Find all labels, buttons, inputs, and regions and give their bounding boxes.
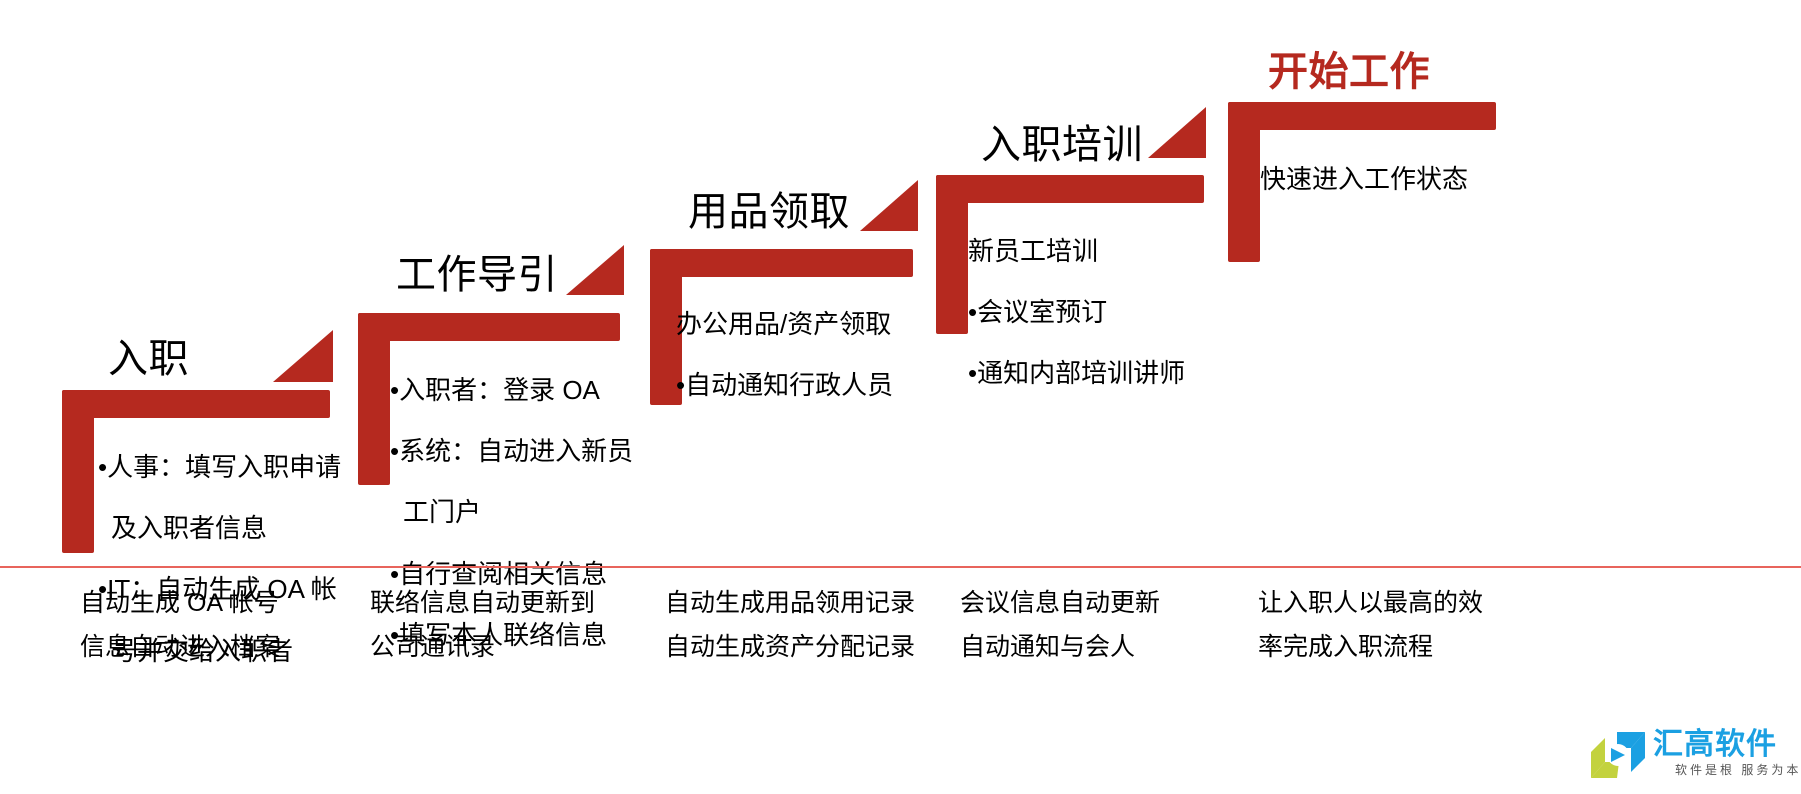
step-4-body: 新员工培训 •会议室预订 •通知内部培训讲师 (968, 205, 1228, 420)
step-1-line-2: 及入职者信息 (98, 513, 360, 544)
step-4-line-3: •通知内部培训讲师 (968, 358, 1228, 389)
benefit-3-line-2: 自动生成资产分配记录 (665, 626, 915, 670)
benefit-2: 联络信息自动更新到 公司通讯录 (370, 582, 595, 670)
benefit-4: 会议信息自动更新 自动通知与会人 (960, 582, 1160, 670)
logo-tagline: 软件是根 服务为本 (1675, 764, 1801, 776)
step-2-bar-top (358, 313, 620, 341)
step-4-bar-left (936, 175, 968, 334)
benefit-3-line-1: 自动生成用品领用记录 (665, 582, 915, 626)
step-2-bar-left (358, 313, 390, 485)
step-4-line-2: •会议室预订 (968, 297, 1228, 328)
step-3-line-2: •自动通知行政人员 (676, 370, 931, 401)
step-1-arrow-triangle-icon (273, 330, 333, 382)
step-5-title: 开始工作 (1268, 52, 1430, 92)
benefit-5-line-1: 让入职人以最高的效 (1258, 582, 1483, 626)
step-5-bar-top (1228, 102, 1496, 130)
step-3-body: 办公用品/资产领取 •自动通知行政人员 (676, 278, 931, 431)
step-1-bar-top (62, 390, 330, 418)
benefit-5-line-2: 率完成入职流程 (1258, 626, 1483, 670)
step-5-line-1: 快速进入工作状态 (1260, 164, 1530, 195)
step-5-bar-left (1228, 102, 1260, 262)
step-3-bar-top (650, 249, 913, 277)
benefit-3: 自动生成用品领用记录 自动生成资产分配记录 (665, 582, 915, 670)
step-1-title: 入职 (108, 339, 189, 379)
step-2-line-3: 工门户 (390, 497, 640, 528)
benefit-4-line-1: 会议信息自动更新 (960, 582, 1160, 626)
step-2-title: 工作导引 (396, 255, 558, 295)
benefit-5: 让入职人以最高的效 率完成入职流程 (1258, 582, 1483, 670)
step-4-arrow-triangle-icon (1148, 107, 1206, 158)
step-4-bar-top (936, 175, 1204, 203)
benefit-2-line-2: 公司通讯录 (370, 626, 595, 670)
step-4-title: 入职培训 (981, 125, 1143, 165)
onboarding-process-diagram: 入职 •人事：填写入职申请 及入职者信息 •IT：自动生成 OA 帐 号并交给入… (0, 0, 1801, 794)
benefit-2-line-1: 联络信息自动更新到 (370, 582, 595, 626)
step-2-arrow-triangle-icon (566, 245, 624, 295)
company-logo: 汇高软件 软件是根 服务为本 (1587, 728, 1787, 786)
step-3-line-1: 办公用品/资产领取 (676, 309, 931, 340)
step-1-bar-left (62, 390, 94, 553)
logo-mark-icon (1587, 728, 1649, 782)
benefit-1-line-1: 自动生成 OA 帐号 (80, 582, 280, 626)
step-3-title: 用品领取 (688, 192, 850, 232)
step-1-line-1: •人事：填写入职申请 (98, 452, 360, 483)
step-4-line-1: 新员工培训 (968, 236, 1228, 267)
step-3-arrow-triangle-icon (860, 180, 918, 231)
section-divider (0, 566, 1801, 568)
benefit-1-line-2: 信息自动进入档案 (80, 626, 280, 670)
logo-name: 汇高软件 (1653, 730, 1777, 760)
step-5-body: 快速进入工作状态 (1260, 133, 1530, 225)
step-2-line-2: •系统：自动进入新员 (390, 436, 640, 467)
benefit-1: 自动生成 OA 帐号 信息自动进入档案 (80, 582, 280, 670)
benefit-4-line-2: 自动通知与会人 (960, 626, 1160, 670)
step-2-line-1: •入职者：登录 OA (390, 375, 640, 406)
